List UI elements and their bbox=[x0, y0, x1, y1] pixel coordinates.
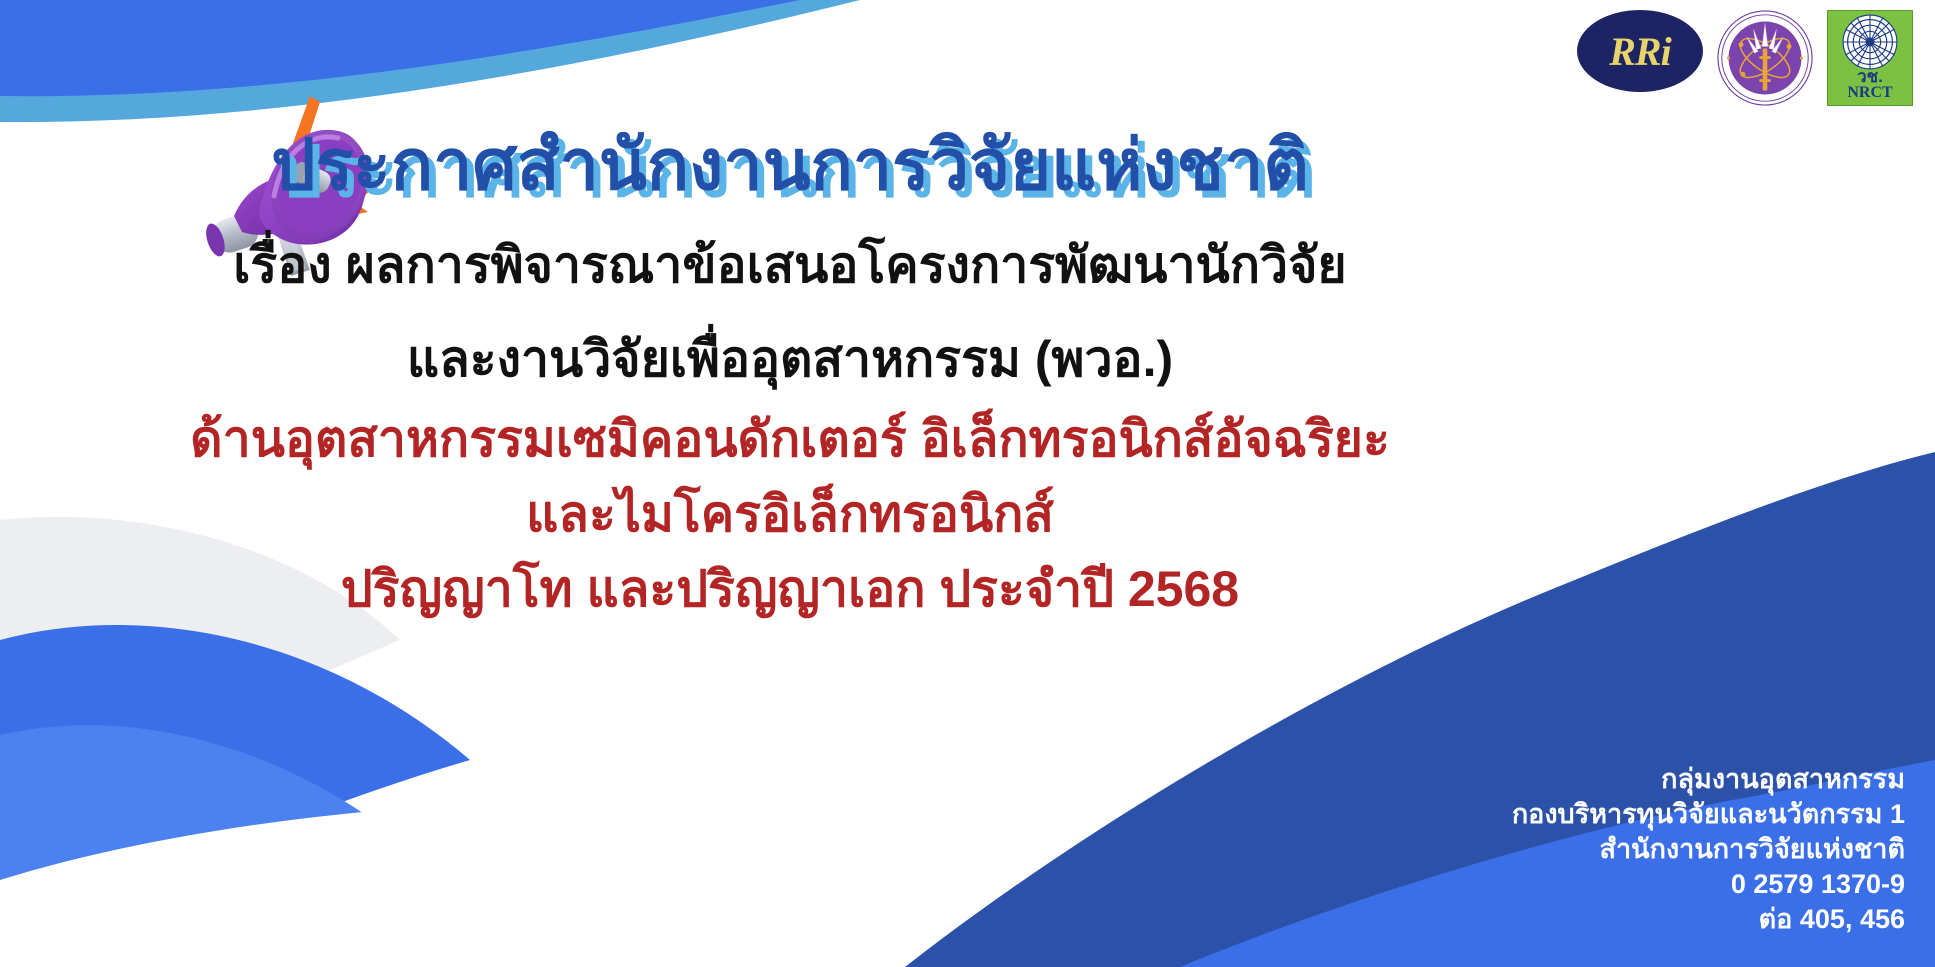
poster-content: ประกาศสำนักงานการวิจัยแห่งชาติ เรื่อง ผล… bbox=[0, 0, 1580, 623]
page-title: ประกาศสำนักงานการวิจัยแห่งชาติ bbox=[0, 0, 1580, 204]
logo-strip: RRi bbox=[1577, 10, 1913, 106]
bottom-left-blue-wave bbox=[0, 625, 470, 967]
ministry-seal-icon bbox=[1717, 10, 1813, 106]
topic-line-3: ปริญญาโท และปริญญาเอก ประจำปี 2568 bbox=[0, 548, 1580, 623]
rri-logo-text: RRi bbox=[1609, 28, 1670, 75]
contact-line-2: กองบริหารทุนวิจัยและนวัตกรรม 1 bbox=[1512, 797, 1905, 832]
poster-canvas: RRi bbox=[0, 0, 1935, 967]
subject-line-1: เรื่อง ผลการพิจารณาข้อเสนอโครงการพัฒนานั… bbox=[0, 204, 1580, 298]
contact-extension: ต่อ 405, 456 bbox=[1512, 902, 1905, 937]
ministry-seal-logo bbox=[1717, 10, 1813, 106]
nrct-logo-text-th: วช. bbox=[1857, 68, 1883, 85]
contact-line-1: กลุ่มงานอุตสาหกรรม bbox=[1512, 762, 1905, 797]
subject-line-2: และงานวิจัยเพื่ออุตสาหกรรม (พวอ.) bbox=[0, 298, 1580, 392]
contact-line-3: สำนักงานการวิจัยแห่งชาติ bbox=[1512, 832, 1905, 867]
nrct-logo: วช. NRCT bbox=[1827, 10, 1913, 106]
topic-line-2: และไมโครอิเล็กทรอนิกส์ bbox=[0, 473, 1580, 548]
nrct-wheel-icon bbox=[1842, 14, 1898, 70]
topic-line-1: ด้านอุตสาหกรรมเซมิคอนดักเตอร์ อิเล็กทรอน… bbox=[0, 392, 1580, 473]
bottom-left-light-wave bbox=[0, 725, 400, 967]
nrct-logo-text-en: NRCT bbox=[1847, 85, 1892, 102]
contact-phone: 0 2579 1370-9 bbox=[1512, 867, 1905, 902]
contact-block: กลุ่มงานอุตสาหกรรม กองบริหารทุนวิจัยและน… bbox=[1512, 762, 1905, 937]
rri-logo: RRi bbox=[1577, 10, 1703, 92]
